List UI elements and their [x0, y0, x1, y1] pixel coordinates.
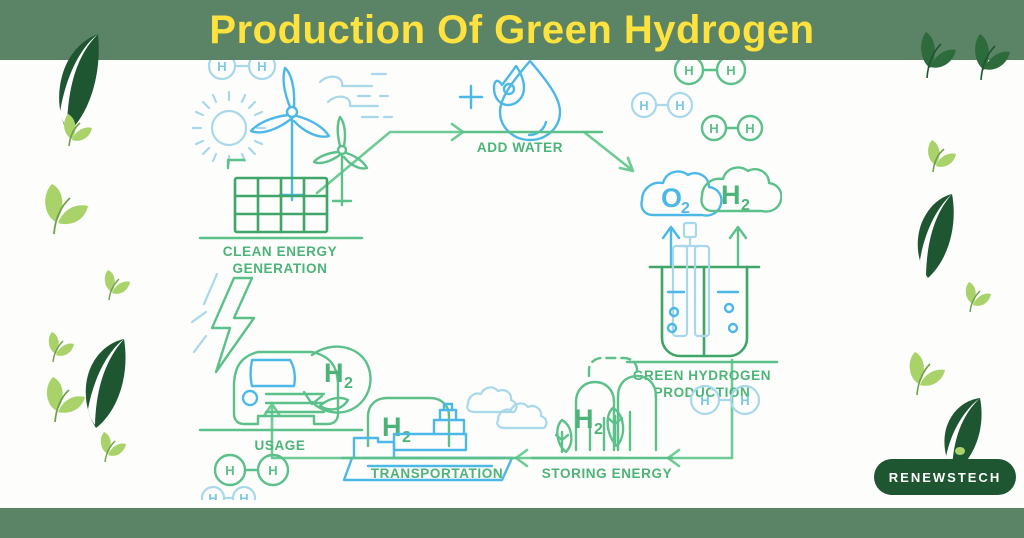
ghp-label-1: GREEN HYDROGEN: [633, 368, 771, 383]
molecule-top-right-1: H H: [675, 60, 745, 84]
stage-add-water[interactable]: ADD WATER: [460, 61, 602, 155]
brand-badge[interactable]: RENEWSTECH: [874, 459, 1016, 495]
solar-panel-icon: [228, 160, 327, 232]
svg-text:H: H: [745, 121, 754, 136]
transportation-label: TRANSPORTATION: [371, 466, 503, 481]
stage-green-hydrogen-production[interactable]: O 2 H 2: [627, 168, 781, 400]
stage-clean-energy[interactable]: CLEAN ENERGY GENERATION: [193, 68, 392, 276]
wind-turbine-icon: [251, 68, 329, 200]
sprig-upper-right: [916, 138, 960, 183]
ship-2-subscript: 2: [402, 429, 411, 446]
brand-name: RENEWSTECH: [889, 470, 1001, 485]
stage-transportation[interactable]: H 2 TRANSPORTATION: [342, 387, 546, 481]
cycle-svg: .g { stroke:#5cc08a; fill:none; stroke-w…: [172, 60, 782, 500]
car-icon: [234, 352, 338, 424]
sprig-bottom-left: [90, 430, 130, 471]
usage-2-subscript: 2: [344, 375, 353, 392]
page-title: Production Of Green Hydrogen: [0, 0, 1024, 60]
sprig-upper-left: [52, 112, 96, 157]
storing-energy-label: STORING ENERGY: [542, 466, 672, 481]
wind-turbine-small-icon: [314, 117, 367, 205]
svg-text:H: H: [709, 121, 718, 136]
h2-symbol: H: [721, 180, 741, 210]
clean-energy-label-1: CLEAN ENERGY: [223, 244, 337, 259]
svg-text:H: H: [257, 60, 266, 74]
svg-text:H: H: [726, 63, 735, 78]
molecule-bottom-left-2: H H: [202, 487, 255, 500]
seedling-icon: [608, 408, 623, 446]
sprig-small-left: [94, 268, 134, 309]
sprig-bottom-left-side: [35, 375, 89, 432]
infographic-page: Production Of Green Hydrogen: [0, 0, 1024, 538]
svg-text:H: H: [225, 463, 234, 478]
add-water-label: ADD WATER: [477, 140, 563, 155]
molecule-top-right-2: H H: [632, 93, 692, 117]
cloud-icon: [467, 387, 546, 428]
svg-text:H: H: [239, 491, 248, 500]
svg-text:H: H: [639, 98, 648, 113]
svg-text:H: H: [700, 393, 709, 408]
molecule-top-left: H H: [209, 60, 275, 79]
stage-usage[interactable]: H 2 USAGE: [192, 274, 371, 453]
svg-text:H: H: [740, 393, 749, 408]
storing-h-symbol: H: [574, 404, 594, 434]
svg-text:H: H: [268, 463, 277, 478]
storing-2-subscript: 2: [594, 421, 603, 438]
hydrogen-cycle-diagram: .g { stroke:#5cc08a; fill:none; stroke-w…: [172, 60, 782, 500]
sprig-mid-left: [32, 182, 92, 245]
molecule-top-right-3: H H: [702, 116, 762, 140]
clean-energy-label-2: GENERATION: [232, 261, 327, 276]
o2-subscript: 2: [681, 200, 690, 217]
o2-symbol: O: [661, 183, 682, 213]
ship-h-symbol: H: [382, 412, 402, 442]
h2-subscript: 2: [741, 197, 750, 214]
water-droplet-icon: [494, 61, 560, 140]
leaf-right: [906, 190, 962, 287]
leaf-icon: [556, 420, 571, 452]
plus-icon: [460, 86, 482, 108]
molecule-bottom-left-1: H H: [215, 455, 288, 485]
wind-lines-icon: [320, 74, 392, 117]
electrolyzer-icon: [650, 223, 759, 356]
svg-text:H: H: [208, 491, 217, 500]
usage-label: USAGE: [254, 438, 305, 453]
sprig-right-low: [955, 280, 995, 321]
svg-text:H: H: [684, 63, 693, 78]
h2-tank-icon: H 2: [368, 398, 449, 446]
svg-text:H: H: [217, 60, 226, 74]
bottom-banner: [0, 508, 1024, 538]
h2-cloud-icon: H 2: [701, 168, 781, 214]
usage-h-symbol: H: [324, 358, 344, 388]
svg-text:H: H: [675, 98, 684, 113]
